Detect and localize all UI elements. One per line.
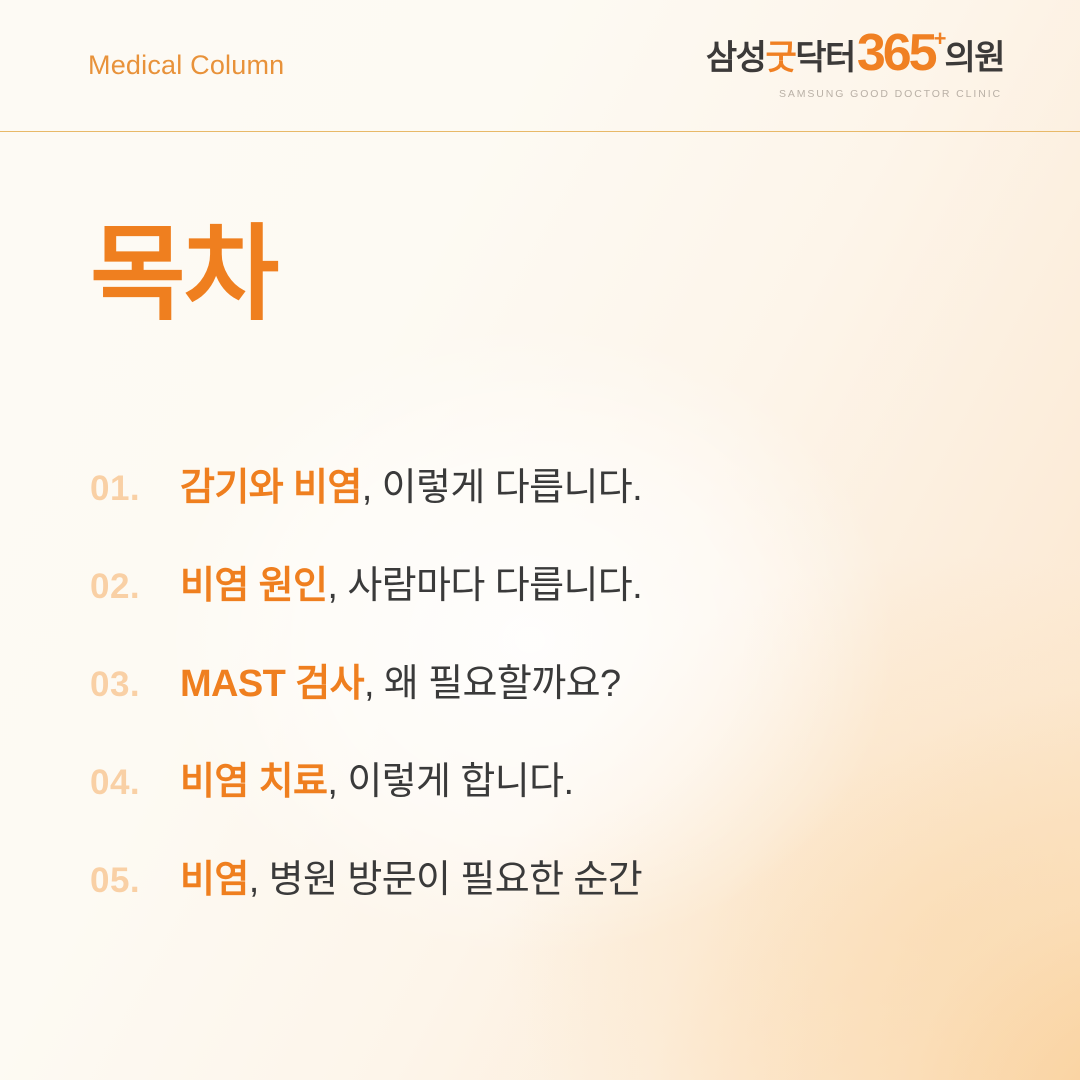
toc-item-highlight: MAST 검사	[180, 663, 364, 705]
logo-text-samsung: 삼성	[706, 41, 766, 78]
toc-item-highlight: 비염 치료	[180, 761, 327, 803]
toc-item-rest: , 병원 방문이 필요한 순간	[249, 859, 642, 901]
toc-item-number: 01.	[90, 469, 180, 509]
toc-item[interactable]: 02. 비염 원인, 사람마다 다릅니다.	[90, 564, 1030, 662]
toc-item-rest: , 사람마다 다릅니다.	[327, 565, 642, 607]
logo-text-doctor: 닥터	[795, 41, 855, 78]
toc-item-number: 05.	[90, 861, 180, 901]
logo-wordmark: 삼성 굿 닥터 365 + 의원	[706, 30, 1004, 78]
toc-item-text: MAST 검사, 왜 필요할까요?	[180, 662, 621, 708]
toc-item-rest: , 이렇게 합니다.	[327, 761, 573, 803]
toc-item-number: 02.	[90, 567, 180, 607]
toc-item[interactable]: 03. MAST 검사, 왜 필요할까요?	[90, 662, 1030, 760]
toc-item-number: 03.	[90, 665, 180, 705]
toc-item-highlight: 비염	[180, 859, 249, 901]
toc-item[interactable]: 01. 감기와 비염, 이렇게 다릅니다.	[90, 466, 1030, 564]
logo-text-365: 365	[857, 30, 935, 78]
toc-item-text: 비염 원인, 사람마다 다릅니다.	[180, 564, 642, 610]
toc-item[interactable]: 05. 비염, 병원 방문이 필요한 순간	[90, 858, 1030, 956]
toc-item-number: 04.	[90, 763, 180, 803]
toc-item-text: 비염, 병원 방문이 필요한 순간	[180, 858, 642, 904]
toc-item-rest: , 이렇게 다릅니다.	[362, 467, 642, 509]
header: Medical Column 삼성 굿 닥터 365 + 의원 SAMSUNG …	[0, 0, 1080, 131]
toc-item[interactable]: 04. 비염 치료, 이렇게 합니다.	[90, 760, 1030, 858]
logo-text-clinic-ko: 의원	[944, 41, 1004, 78]
toc-item-highlight: 비염 원인	[180, 565, 327, 607]
toc-item-highlight: 감기와 비염	[180, 467, 362, 509]
logo-text-good: 굿	[765, 41, 795, 78]
toc-item-text: 비염 치료, 이렇게 합니다.	[180, 760, 573, 806]
slide-root: Medical Column 삼성 굿 닥터 365 + 의원 SAMSUNG …	[0, 0, 1080, 1080]
toc-item-text: 감기와 비염, 이렇게 다릅니다.	[180, 466, 642, 512]
header-label: Medical Column	[88, 50, 284, 81]
toc-list: 01. 감기와 비염, 이렇게 다릅니다. 02. 비염 원인, 사람마다 다릅…	[90, 466, 1030, 956]
clinic-logo: 삼성 굿 닥터 365 + 의원 SAMSUNG GOOD DOCTOR CLI…	[714, 30, 1004, 104]
page-title: 목차	[90, 218, 277, 332]
header-divider	[0, 131, 1080, 132]
logo-subtitle: SAMSUNG GOOD DOCTOR CLINIC	[779, 88, 1002, 100]
toc-item-rest: , 왜 필요할까요?	[364, 663, 621, 705]
